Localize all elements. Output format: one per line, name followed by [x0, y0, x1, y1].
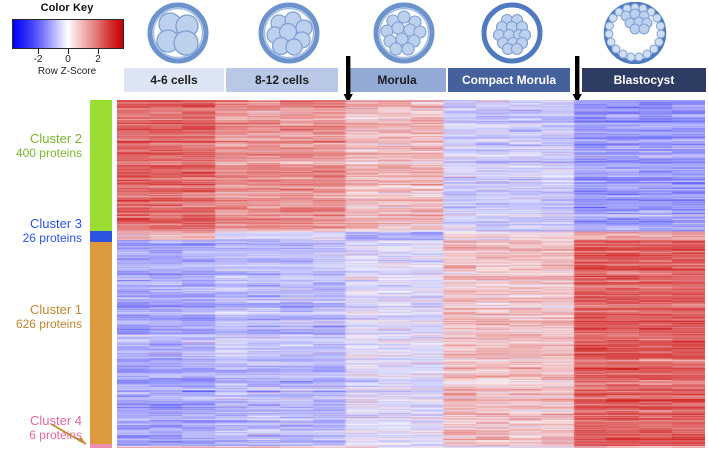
- cluster-label-cluster-1: Cluster 1 626 proteins: [0, 302, 82, 331]
- color-key-tick-label-0: -2: [34, 54, 43, 65]
- stage-label-morula: Morula: [377, 73, 416, 87]
- cluster-segment-cluster-2[interactable]: [90, 100, 112, 231]
- cluster-3-name: Cluster 3: [0, 216, 82, 231]
- color-key-tick-label-2: 2: [95, 54, 101, 65]
- stage-bar-4-6-cells[interactable]: 4-6 cells: [124, 68, 224, 92]
- stage-label-4-6-cells: 4-6 cells: [150, 73, 197, 87]
- stage-label-blastocyst: Blastocyst: [614, 73, 675, 87]
- stage-bar-morula[interactable]: Morula: [348, 68, 446, 92]
- cluster-label-cluster-2: Cluster 2 400 proteins: [0, 131, 82, 160]
- stage-bar-8-12-cells[interactable]: 8-12 cells: [226, 68, 338, 92]
- cluster-color-sidebar: [90, 100, 112, 448]
- stage-bar-blastocyst[interactable]: Blastocyst: [582, 68, 706, 92]
- cluster-2-count: 400 proteins: [0, 146, 82, 160]
- cluster-segment-cluster-3[interactable]: [90, 231, 112, 242]
- embryo-morula-icon: [372, 2, 436, 64]
- arrow-morula-transition: [342, 56, 354, 103]
- cluster-1-count: 626 proteins: [0, 317, 82, 331]
- arrow-blastocyst-transition: [571, 56, 583, 103]
- heatmap-panel[interactable]: [117, 100, 705, 448]
- cluster-3-count: 26 proteins: [0, 231, 82, 245]
- color-key-axis-label: Row Z-Score: [6, 66, 128, 77]
- stage-bar-compact-morula[interactable]: Compact Morula: [448, 68, 570, 92]
- cluster-1-name: Cluster 1: [0, 302, 82, 317]
- color-key-title: Color Key: [6, 2, 128, 14]
- color-key-legend: Color Key -2 0 2 Row Z-Score: [6, 2, 128, 80]
- color-key-tick-label-1: 0: [65, 54, 71, 65]
- embryo-compact-morula-icon: [480, 2, 544, 64]
- color-key-gradient-bar: [12, 19, 124, 49]
- cluster-segment-cluster-1[interactable]: [90, 242, 112, 444]
- embryo-8-12-cells-icon: [257, 2, 321, 64]
- stage-label-8-12-cells: 8-12 cells: [255, 73, 309, 87]
- stage-label-compact-morula: Compact Morula: [462, 73, 556, 87]
- heatmap-canvas[interactable]: [117, 100, 705, 448]
- figure-root: Color Key -2 0 2 Row Z-Score: [0, 0, 708, 457]
- cluster-4-leader-line: [50, 418, 94, 448]
- embryo-blastocyst-icon: [599, 2, 671, 64]
- cluster-label-cluster-3: Cluster 3 26 proteins: [0, 216, 82, 245]
- embryo-4-6-cells-icon: [146, 2, 210, 64]
- cluster-2-name: Cluster 2: [0, 131, 82, 146]
